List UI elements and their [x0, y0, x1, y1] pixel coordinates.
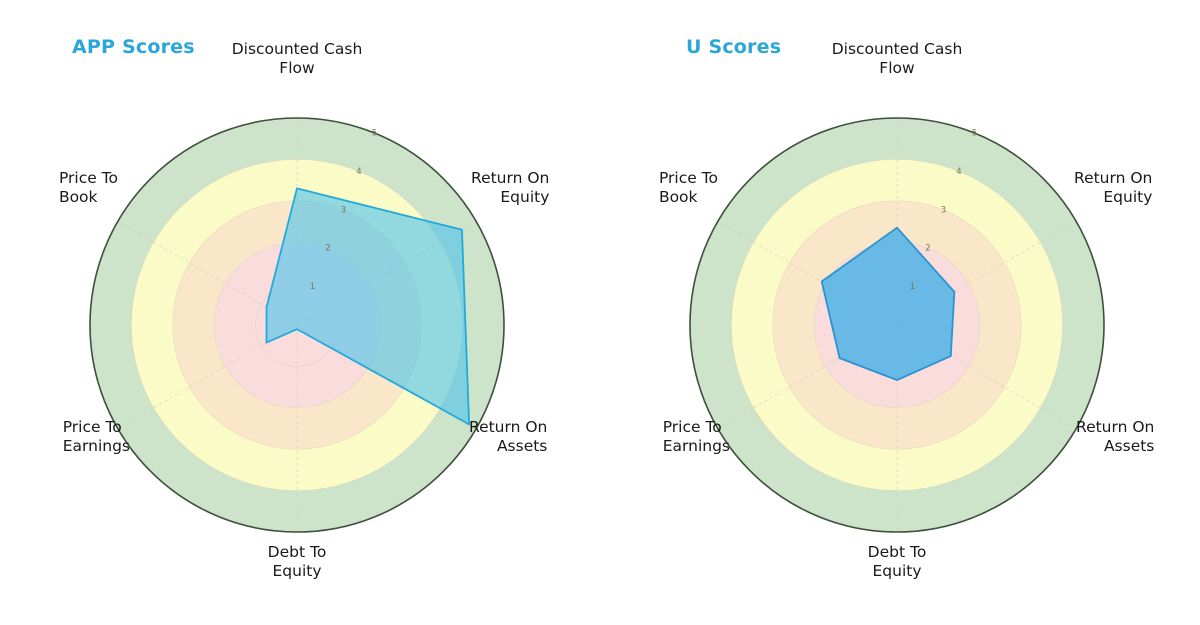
radial-tick-label: 2	[925, 244, 930, 254]
radial-tick-label: 3	[341, 205, 346, 215]
radar-figure: APP Scores 12345 Discounted Cash FlowRet…	[0, 0, 1200, 625]
panel-u-scores: U Scores 12345 Discounted Cash FlowRetur…	[600, 0, 1200, 625]
radar-chart-u: 12345	[600, 0, 1200, 625]
radial-tick-label: 4	[356, 167, 361, 177]
radial-tick-label: 4	[956, 167, 961, 177]
radial-tick-label: 2	[325, 244, 330, 254]
radial-tick-label: 3	[941, 205, 946, 215]
panel-app-scores: APP Scores 12345 Discounted Cash FlowRet…	[0, 0, 600, 625]
radial-tick-label: 5	[372, 129, 377, 139]
radial-tick-label: 5	[972, 129, 977, 139]
radial-tick-label: 1	[310, 282, 315, 292]
radar-chart-app: 12345	[0, 0, 600, 625]
radial-tick-label: 1	[910, 282, 915, 292]
